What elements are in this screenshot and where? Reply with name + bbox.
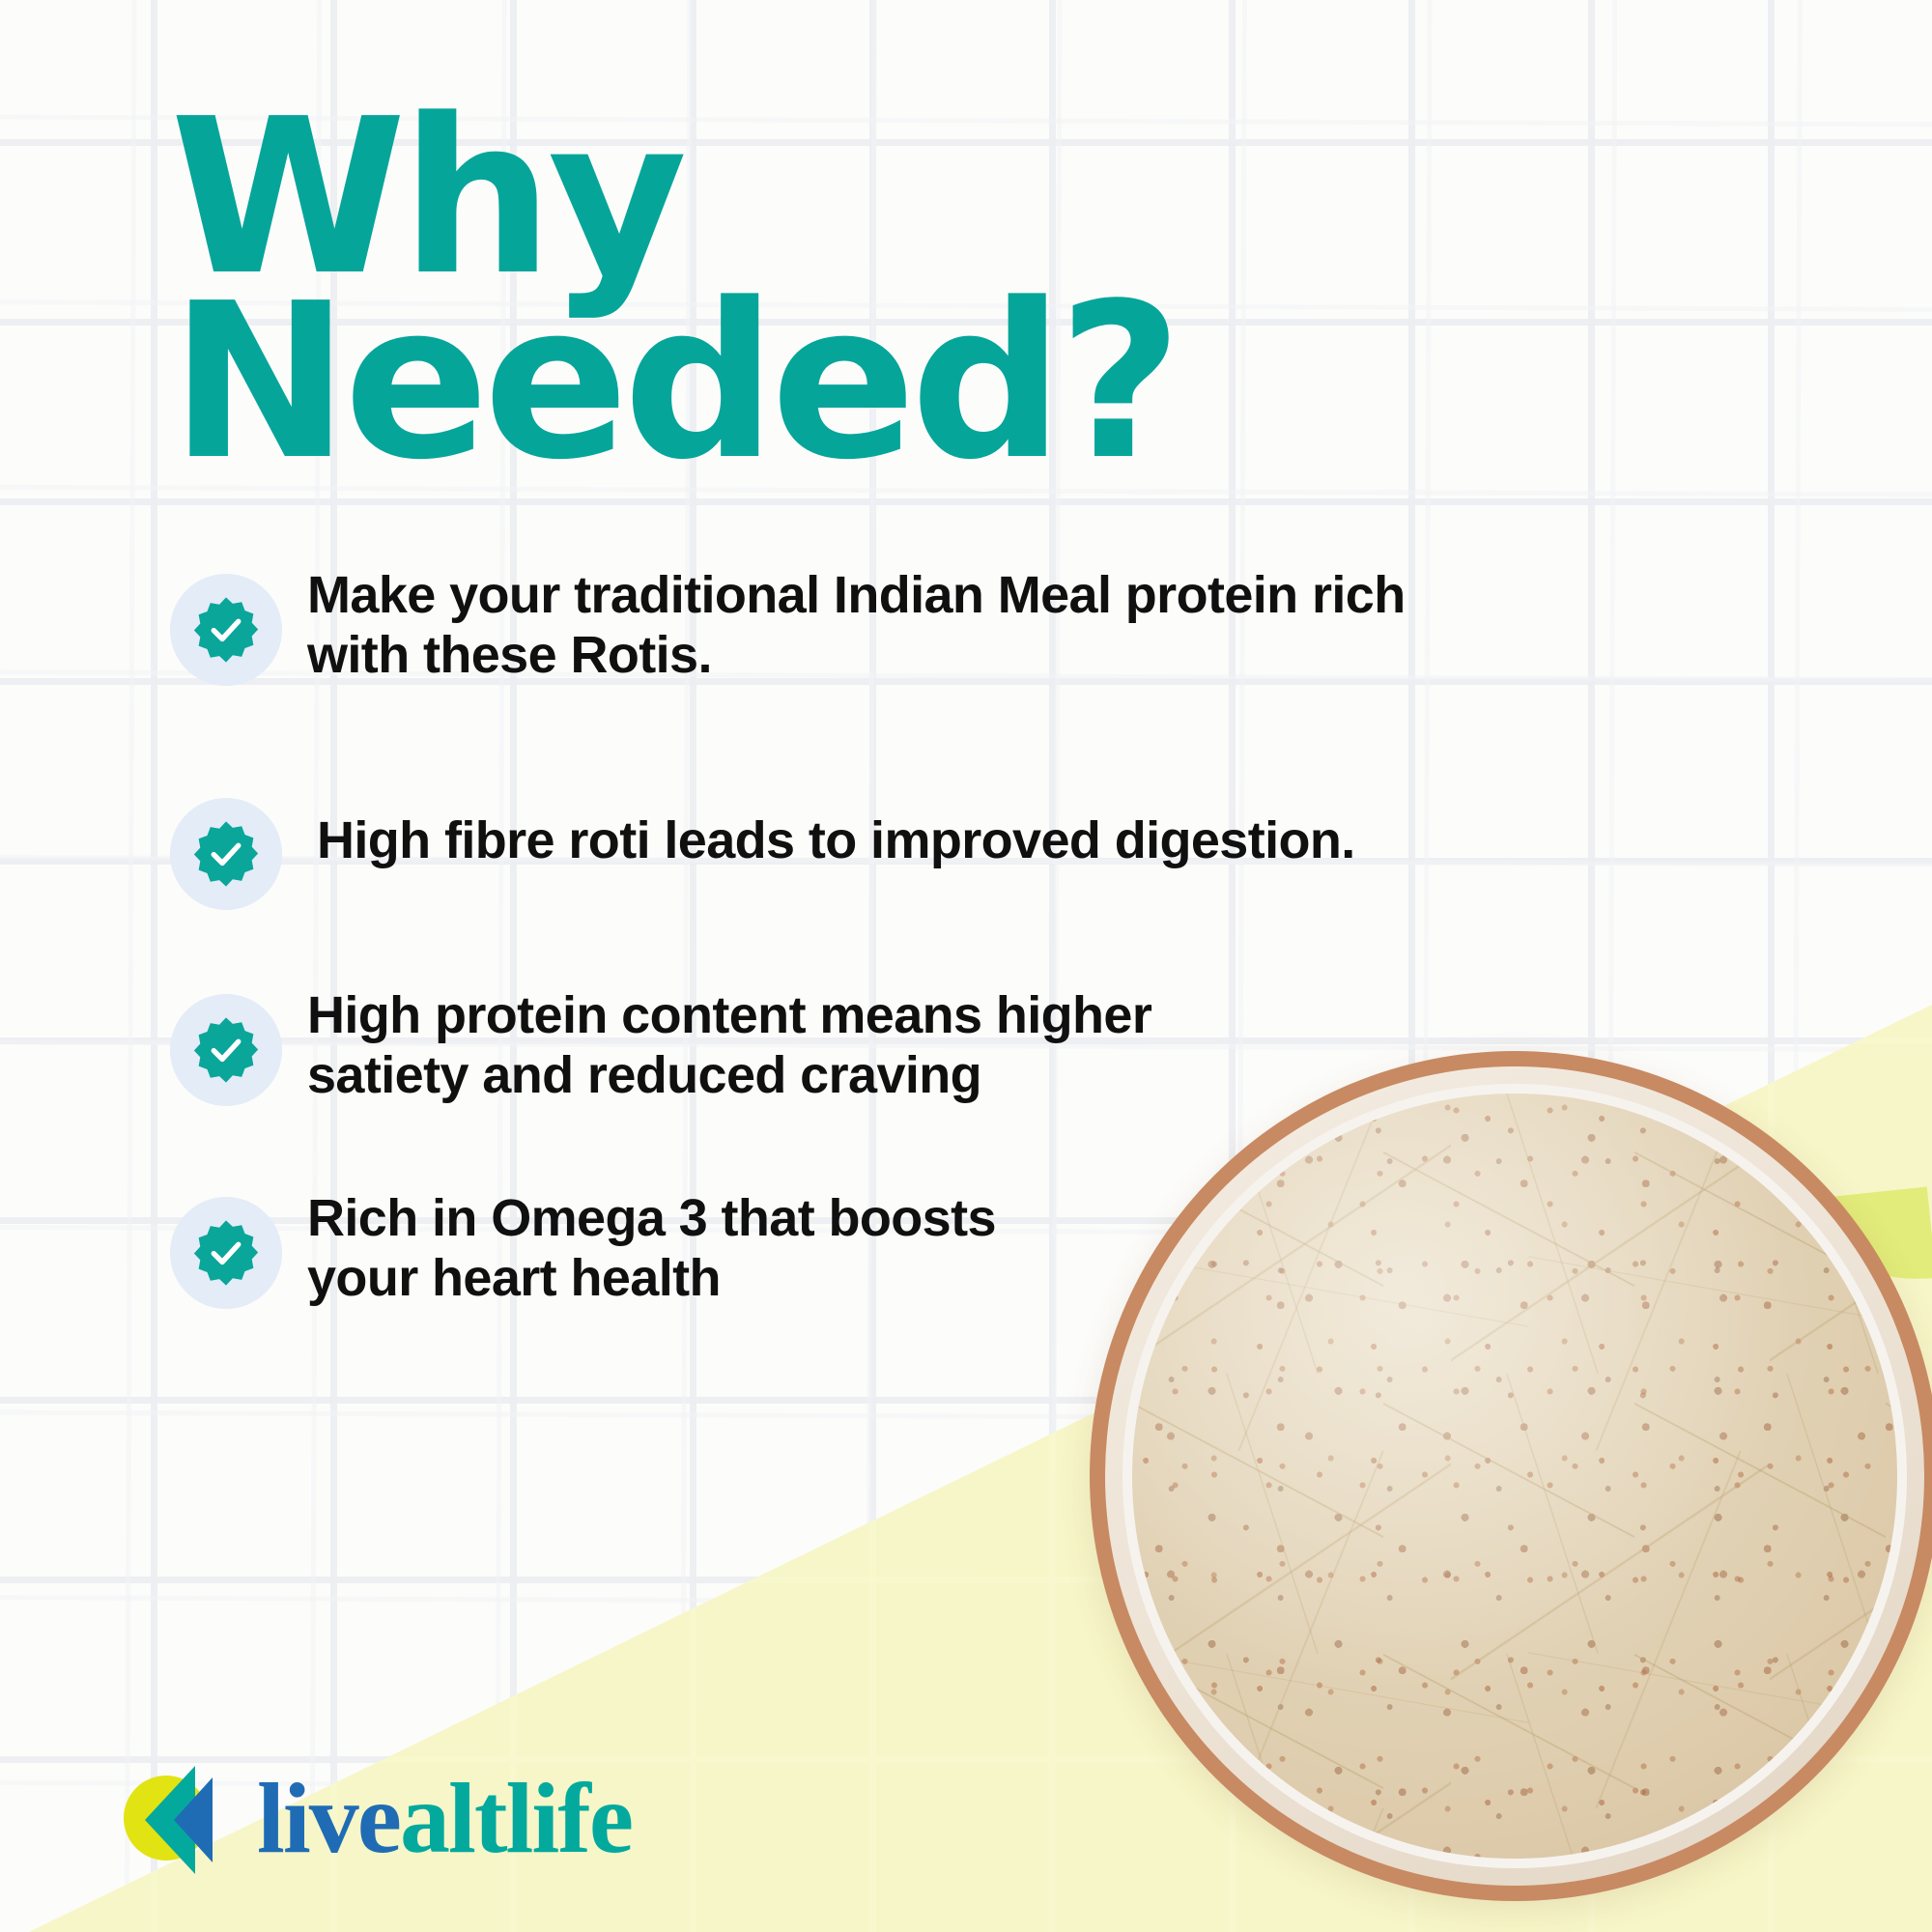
list-item-label: Make your traditional Indian Meal protei… [307,560,1406,685]
brand-logo[interactable]: livealtlife [124,1760,632,1878]
list-item: Rich in Omega 3 that boosts your heart h… [170,1183,1551,1309]
list-item-label: High fibre roti leads to improved digest… [317,784,1355,871]
list-item-label: High protein content means higher satiet… [307,980,1151,1105]
list-item-line: satiety and reduced craving [307,1046,981,1104]
page-title: Why Needed? [170,106,1233,475]
logo-blue-arrow [174,1777,213,1862]
list-item-label: Rich in Omega 3 that boosts your heart h… [307,1183,996,1308]
list-item-line: with these Rotis. [307,626,712,684]
list-item-line: Rich in Omega 3 that boosts [307,1189,996,1247]
list-item-line: High protein content means higher [307,986,1151,1044]
brand-wordmark: livealtlife [257,1769,632,1869]
verified-check-badge-icon [170,574,282,686]
page-title-line-2: Needed? [170,291,1233,475]
list-item: High fibre roti leads to improved digest… [170,784,1551,910]
list-item: High protein content means higher satiet… [170,980,1551,1106]
livealtlife-arrow-mark-icon [124,1760,241,1878]
list-item-line: your heart health [307,1249,721,1307]
list-item: Make your traditional Indian Meal protei… [170,560,1551,686]
brand-wordmark-live: live [257,1763,400,1874]
verified-check-badge-icon [170,1197,282,1309]
brand-wordmark-altlife: altlife [400,1763,632,1874]
list-item-line: High fibre roti leads to improved digest… [317,811,1355,869]
verified-check-badge-icon [170,994,282,1106]
verified-check-badge-icon [170,798,282,910]
poster-canvas: Why Needed? Make your traditional Indian… [0,0,1932,1932]
roti-plate-image [1090,1051,1932,1901]
list-item-line: Make your traditional Indian Meal protei… [307,566,1406,624]
